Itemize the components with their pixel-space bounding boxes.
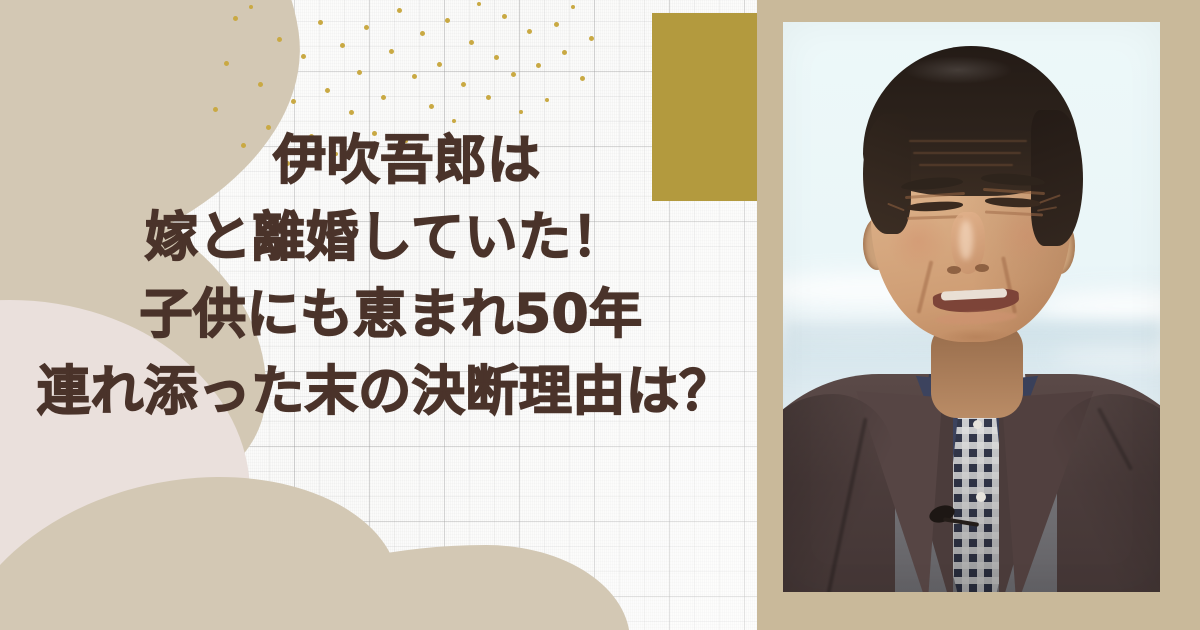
- headline-line-2: 嫁と離婚していた！: [0, 199, 770, 276]
- headline-line-3: 子供にも恵まれ50年: [0, 276, 770, 353]
- headline-line-4: 連れ添った末の決断理由は？: [0, 353, 770, 430]
- headline-line-1: 伊吹吾郎は: [0, 122, 770, 199]
- photo-vignette: [783, 22, 1160, 592]
- thumbnail-canvas: 伊吹吾郎は 嫁と離婚していた！ 子供にも恵まれ50年 連れ添った末の決断理由は？: [0, 0, 1200, 630]
- headline-block: 伊吹吾郎は 嫁と離婚していた！ 子供にも恵まれ50年 連れ添った末の決断理由は？: [0, 122, 770, 430]
- portrait-photo: [783, 22, 1160, 592]
